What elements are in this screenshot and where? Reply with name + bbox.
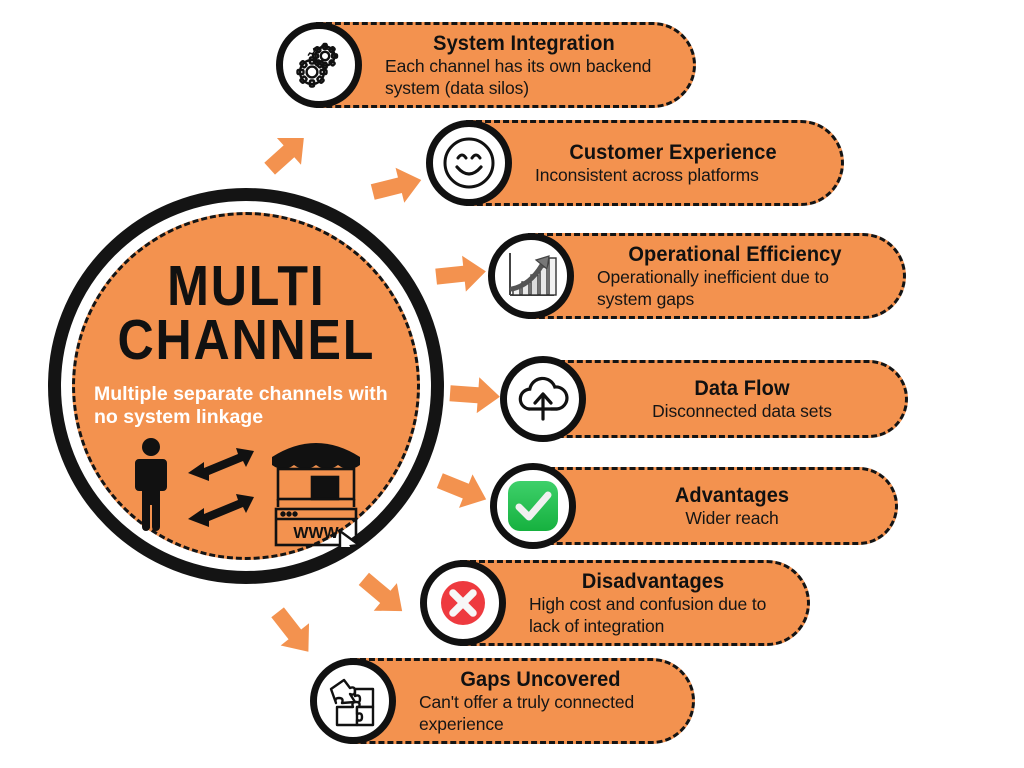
hub-icon-cluster: WWW <box>126 435 366 547</box>
multi-channel-hub: MULTI CHANNEL Multiple separate channels… <box>48 188 444 584</box>
puzzle-pieces-icon <box>325 673 381 729</box>
item-title: Customer Experience <box>545 140 802 164</box>
item-title: System Integration <box>395 31 654 55</box>
node-circle-customer-experience[interactable] <box>426 120 512 206</box>
node-circle-system-integration[interactable] <box>276 22 362 108</box>
item-title: Disadvantages <box>538 569 769 593</box>
smiley-face-icon <box>441 135 497 191</box>
connector-arrow-icon <box>352 564 414 626</box>
item-row-data-flow[interactable]: Data Flow Disconnected data sets <box>500 356 908 442</box>
double-arrow-icon <box>188 494 254 527</box>
hub-title-line-2: CHANNEL <box>117 313 375 367</box>
hub-inner-disc: MULTI CHANNEL Multiple separate channels… <box>72 212 420 560</box>
connector-arrow-icon <box>262 600 324 664</box>
hub-channel-diagram-icon: WWW <box>126 435 366 547</box>
connector-arrow-icon <box>434 462 492 518</box>
connector-arrow-icon <box>432 248 490 300</box>
item-desc: Disconnected data sets <box>609 401 875 422</box>
infographic-canvas: MULTI CHANNEL Multiple separate channels… <box>0 0 1024 768</box>
pill-gaps-uncovered: Gaps Uncovered Can't offer a truly conne… <box>350 658 695 744</box>
person-icon <box>135 438 167 531</box>
node-circle-data-flow[interactable] <box>500 356 586 442</box>
connector-arrow-icon <box>366 158 428 214</box>
connector-arrow-icon <box>446 370 504 420</box>
item-desc: Inconsistent across platforms <box>535 165 811 186</box>
item-desc: Operationally inefficient due to system … <box>597 267 873 310</box>
gears-icon <box>292 38 346 92</box>
item-title: Data Flow <box>618 376 865 400</box>
item-desc: Each channel has its own backend system … <box>385 56 663 99</box>
item-title: Advantages <box>608 483 855 507</box>
node-circle-disadvantages[interactable] <box>420 560 506 646</box>
storefront-icon <box>272 443 360 507</box>
item-desc: Can't offer a truly connected experience <box>419 692 662 735</box>
svg-text:WWW: WWW <box>293 525 339 542</box>
item-desc: Wider reach <box>599 508 865 529</box>
green-check-icon <box>505 478 561 534</box>
bar-chart-growth-icon <box>502 247 560 305</box>
hub-title-line-1: MULTI <box>117 259 375 313</box>
node-circle-operational-efficiency[interactable] <box>488 233 574 319</box>
item-title: Operational Efficiency <box>607 242 864 266</box>
node-circle-advantages[interactable] <box>490 463 576 549</box>
item-row-customer-experience[interactable]: Customer Experience Inconsistent across … <box>426 120 844 206</box>
pill-disadvantages: Disadvantages High cost and confusion du… <box>460 560 810 646</box>
node-circle-gaps-uncovered[interactable] <box>310 658 396 744</box>
cloud-upload-icon <box>515 373 571 425</box>
pill-operational-efficiency: Operational Efficiency Operationally ine… <box>528 233 906 319</box>
pill-system-integration: System Integration Each channel has its … <box>316 22 696 108</box>
red-cross-icon <box>436 576 490 630</box>
item-row-operational-efficiency[interactable]: Operational Efficiency Operationally ine… <box>488 233 906 319</box>
item-title: Gaps Uncovered <box>428 667 654 691</box>
item-desc: High cost and confusion due to lack of i… <box>529 594 777 637</box>
item-row-disadvantages[interactable]: Disadvantages High cost and confusion du… <box>420 560 810 646</box>
double-arrow-icon <box>188 448 254 481</box>
pill-customer-experience: Customer Experience Inconsistent across … <box>466 120 844 206</box>
pill-data-flow: Data Flow Disconnected data sets <box>540 360 908 438</box>
hub-subtitle: Multiple separate channels with no syste… <box>86 383 406 429</box>
hub-title: MULTI CHANNEL <box>117 259 375 367</box>
item-row-gaps-uncovered[interactable]: Gaps Uncovered Can't offer a truly conne… <box>310 658 695 744</box>
connector-arrow-icon <box>256 124 316 184</box>
item-row-system-integration[interactable]: System Integration Each channel has its … <box>276 22 696 108</box>
pill-advantages: Advantages Wider reach <box>530 467 898 545</box>
item-row-advantages[interactable]: Advantages Wider reach <box>490 463 898 549</box>
